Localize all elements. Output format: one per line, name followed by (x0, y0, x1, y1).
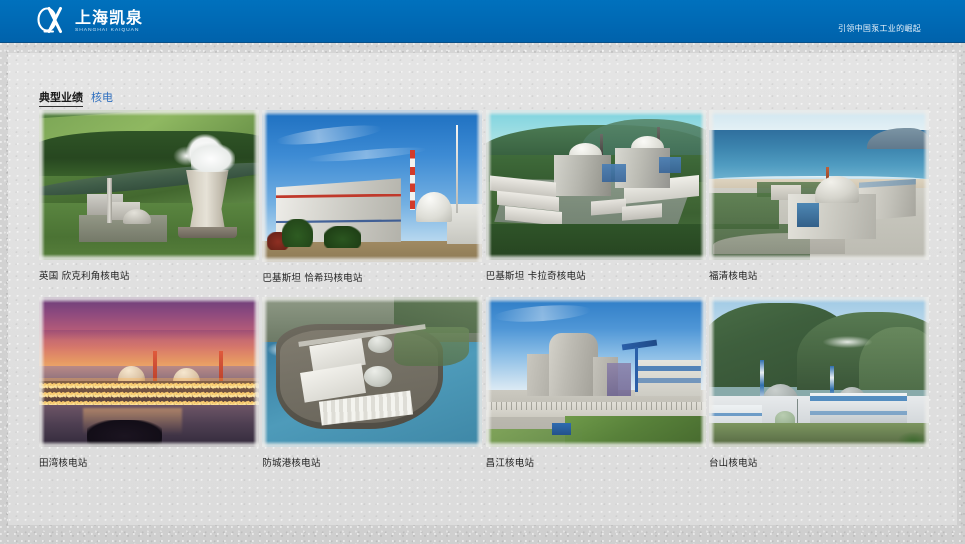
project-card[interactable]: 田湾核电站 (39, 297, 259, 469)
page-title: 典型业绩 (39, 89, 83, 107)
project-card[interactable]: 台山核电站 (709, 297, 929, 469)
project-caption: 台山核电站 (709, 455, 929, 469)
project-photo-fangchenggang (262, 297, 482, 447)
kaiquan-k-mark-icon (36, 6, 70, 36)
project-card[interactable]: 巴基斯坦 卡拉奇核电站 (486, 110, 706, 284)
project-caption: 福清核电站 (709, 268, 929, 282)
project-caption: 田湾核电站 (39, 455, 259, 469)
project-card[interactable]: 防城港核电站 (262, 297, 482, 469)
project-grid-row: 英国 欣克利角核电站 (39, 110, 929, 284)
logo-english-name: SHANGHAI KAIQUAN (75, 28, 143, 33)
project-photo-chashma (262, 110, 482, 262)
slide-page: 上海凯泉 SHANGHAI KAIQUAN 引领中国泵工业的崛起 典型业绩 核电 (0, 0, 965, 544)
header-bar: 上海凯泉 SHANGHAI KAIQUAN 引领中国泵工业的崛起 (0, 0, 965, 43)
project-card[interactable]: 福清核电站 (709, 110, 929, 284)
project-caption: 防城港核电站 (262, 455, 482, 469)
section-header: 典型业绩 核电 (39, 89, 113, 107)
project-grid-row: 田湾核电站 (39, 297, 929, 469)
company-logo[interactable]: 上海凯泉 SHANGHAI KAIQUAN (36, 5, 143, 37)
header-slogan: 引领中国泵工业的崛起 (838, 23, 921, 34)
project-photo-fuqing (709, 110, 929, 260)
project-grid: 英国 欣克利角核电站 (39, 110, 929, 469)
project-caption: 巴基斯坦 恰希玛核电站 (262, 270, 482, 284)
section-subtitle: 核电 (91, 89, 113, 105)
logo-chinese-name: 上海凯泉 (75, 10, 143, 26)
project-card[interactable]: 英国 欣克利角核电站 (39, 110, 259, 284)
project-photo-tianwan (39, 297, 259, 447)
project-caption: 巴基斯坦 卡拉奇核电站 (486, 268, 706, 282)
project-photo-hinkley (39, 110, 259, 260)
project-photo-changjiang (486, 297, 706, 447)
project-caption: 昌江核电站 (486, 455, 706, 469)
project-caption: 英国 欣克利角核电站 (39, 268, 259, 282)
project-photo-taishan (709, 297, 929, 447)
project-photo-karachi (486, 110, 706, 260)
project-card[interactable]: 巴基斯坦 恰希玛核电站 (262, 110, 482, 284)
content-panel: 典型业绩 核电 (8, 53, 957, 525)
project-card[interactable]: 昌江核电站 (486, 297, 706, 469)
